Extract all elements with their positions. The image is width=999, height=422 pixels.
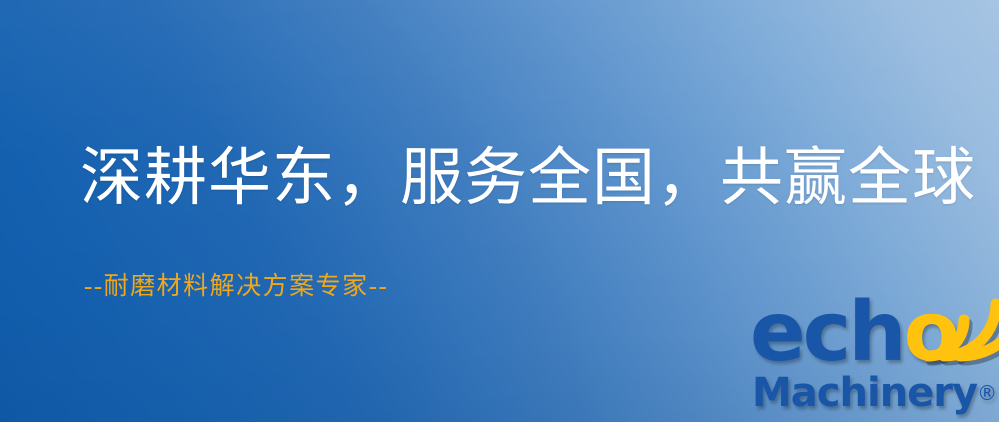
logo-subtext: Machinery® bbox=[752, 373, 997, 413]
banner-subtitle: --耐磨材料解决方案专家-- bbox=[84, 266, 388, 302]
registered-trademark-icon: ® bbox=[977, 381, 997, 405]
promotional-banner: 深耕华东，服务全国，共赢全球 --耐磨材料解决方案专家-- echo Machi… bbox=[0, 0, 999, 422]
logo-subtext-label: Machinery bbox=[752, 370, 977, 416]
logo-wordmark-prefix: ech bbox=[750, 285, 904, 380]
echo-wave-icon bbox=[918, 294, 999, 372]
banner-headline: 深耕华东，服务全国，共赢全球 bbox=[80, 147, 976, 210]
echo-machinery-logo: echo Machinery® bbox=[748, 296, 999, 422]
